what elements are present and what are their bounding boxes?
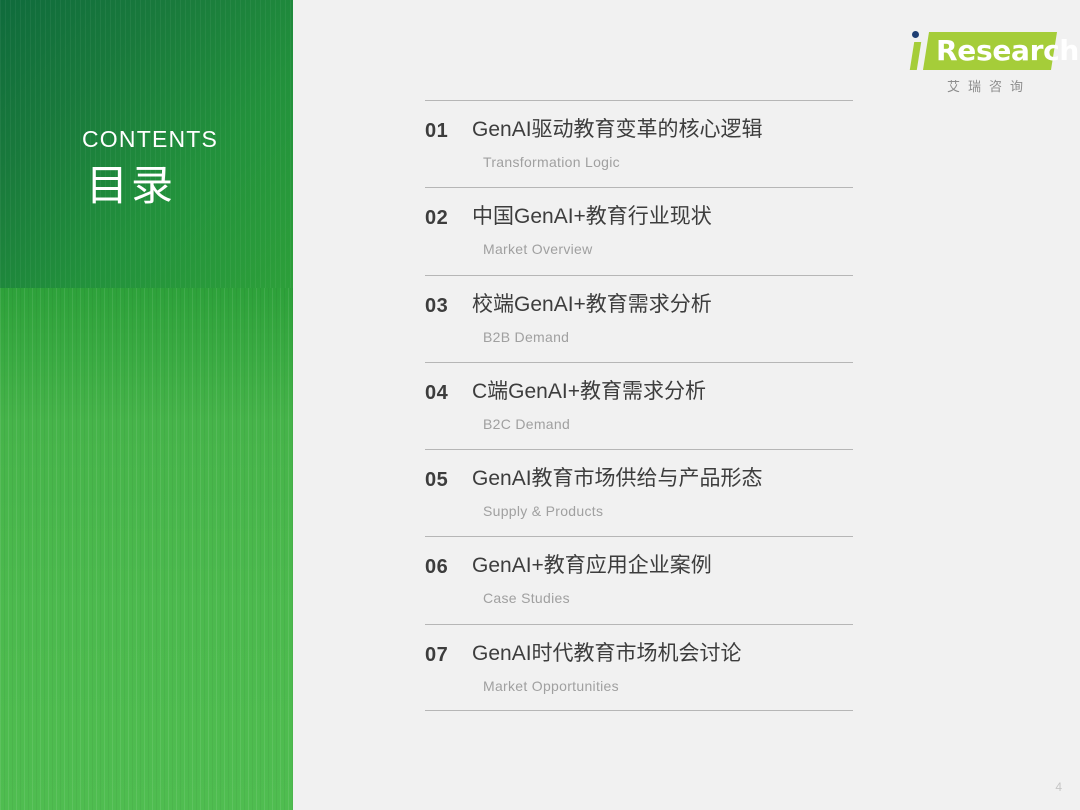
logo-subtitle-cn: 艾瑞咨询 xyxy=(920,76,1058,95)
logo-mark: Research xyxy=(908,28,1058,74)
panel-heading-group: CONTENTS 目录 xyxy=(0,128,293,207)
left-green-panel: CONTENTS 目录 xyxy=(0,0,293,810)
toc-item-number: 02 xyxy=(425,208,448,228)
logo-letter-i-stem xyxy=(910,42,921,70)
toc-item-title: C端GenAI+教育需求分析 xyxy=(472,378,706,405)
toc-item-06[interactable]: 06GenAI+教育应用企业案例Case Studies xyxy=(425,536,853,623)
toc-item-title: 中国GenAI+教育行业现状 xyxy=(472,203,712,230)
toc-item-number: 05 xyxy=(425,470,448,490)
toc-item-04[interactable]: 04C端GenAI+教育需求分析B2C Demand xyxy=(425,362,853,449)
toc-item-05[interactable]: 05GenAI教育市场供给与产品形态Supply & Products xyxy=(425,449,853,536)
toc-item-subtitle: B2C Demand xyxy=(483,417,570,431)
toc-item-subtitle: Case Studies xyxy=(483,591,570,605)
toc-item-subtitle: Market Opportunities xyxy=(483,679,619,693)
toc-item-07[interactable]: 07GenAI时代教育市场机会讨论Market Opportunities xyxy=(425,624,853,711)
toc-item-number: 04 xyxy=(425,383,448,403)
toc-item-number: 03 xyxy=(425,296,448,316)
toc-item-subtitle: Supply & Products xyxy=(483,504,603,518)
contents-label-en: CONTENTS xyxy=(82,128,293,151)
toc-item-number: 01 xyxy=(425,121,448,141)
toc-item-title: GenAI驱动教育变革的核心逻辑 xyxy=(472,116,763,143)
page-number: 4 xyxy=(1055,780,1062,794)
toc-item-title: GenAI教育市场供给与产品形态 xyxy=(472,465,763,492)
table-of-contents: 01GenAI驱动教育变革的核心逻辑Transformation Logic02… xyxy=(425,100,853,711)
toc-item-number: 07 xyxy=(425,645,448,665)
panel-bottom-gradient xyxy=(0,288,293,810)
toc-item-subtitle: Transformation Logic xyxy=(483,155,620,169)
toc-item-title: GenAI+教育应用企业案例 xyxy=(472,552,712,579)
toc-item-subtitle: B2B Demand xyxy=(483,330,569,344)
panel-bottom-stripes xyxy=(0,288,293,810)
toc-item-01[interactable]: 01GenAI驱动教育变革的核心逻辑Transformation Logic xyxy=(425,100,853,187)
toc-item-02[interactable]: 02中国GenAI+教育行业现状Market Overview xyxy=(425,187,853,274)
logo-wordmark: Research xyxy=(936,34,1079,68)
toc-item-subtitle: Market Overview xyxy=(483,242,593,256)
toc-item-number: 06 xyxy=(425,557,448,577)
toc-item-title: GenAI时代教育市场机会讨论 xyxy=(472,640,742,667)
contents-label-cn: 目录 xyxy=(82,165,293,207)
logo-letter-i-dot-icon xyxy=(912,31,919,38)
iresearch-logo: Research 艾瑞咨询 xyxy=(908,28,1058,100)
toc-item-03[interactable]: 03校端GenAI+教育需求分析B2B Demand xyxy=(425,275,853,362)
slide-contents-page: CONTENTS 目录 Research 艾瑞咨询 01GenAI驱动教育变革的… xyxy=(0,0,1080,810)
toc-item-title: 校端GenAI+教育需求分析 xyxy=(472,291,712,318)
